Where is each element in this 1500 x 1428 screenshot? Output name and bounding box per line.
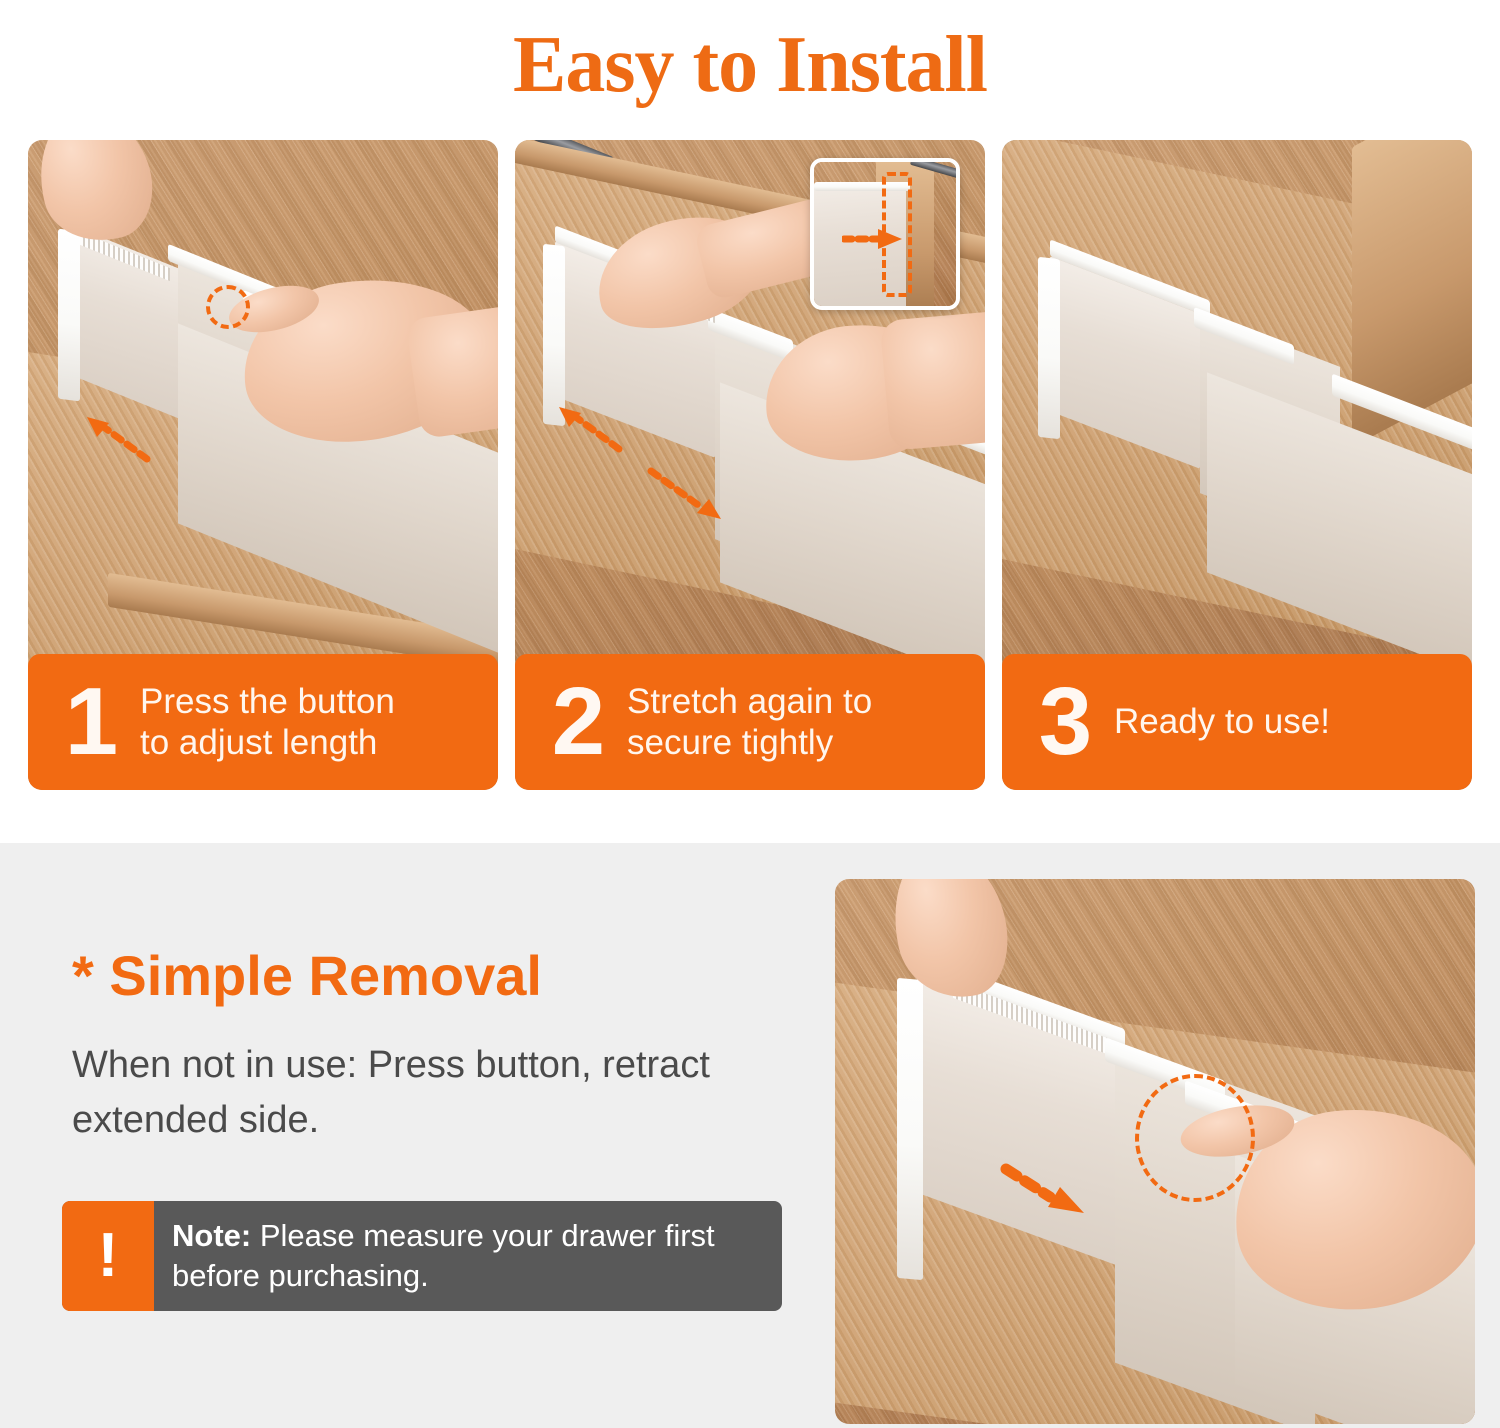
hand-right-forearm (880, 309, 985, 451)
step-3-text: Ready to use! (1114, 701, 1330, 742)
step-panel-2: 2 Stretch again to secure tightly (515, 140, 985, 790)
step-1-text: Press the button to adjust length (140, 681, 395, 764)
page-title: Easy to Install (513, 25, 987, 105)
page-header: Easy to Install (0, 0, 1500, 130)
direction-arrow-right-icon (1000, 1161, 1090, 1221)
hand-right-forearm (405, 301, 498, 439)
button-highlight-circle-icon (1135, 1074, 1255, 1202)
simple-removal-section: * Simple Removal When not in use: Press … (0, 843, 1500, 1428)
note-label: Note: (172, 1218, 251, 1253)
note-banner: ! Note: Please measure your drawer first… (62, 1201, 782, 1311)
divider-left-end-cap (58, 229, 80, 402)
step-2-inset-closeup (810, 158, 960, 310)
note-text: Note: Please measure your drawer first b… (154, 1201, 782, 1311)
direction-arrow-up-left-icon (555, 405, 625, 455)
divider-left-end-cap (1038, 257, 1060, 439)
step-1-caption: 1 Press the button to adjust length (28, 654, 498, 790)
exclamation-icon: ! (62, 1201, 154, 1311)
step-panel-3: 3 Ready to use! (1002, 140, 1472, 790)
removal-photo (835, 879, 1475, 1424)
step-2-text-line2: secure tightly (627, 723, 833, 762)
step-3-text-line1: Ready to use! (1114, 702, 1330, 741)
step-2-caption: 2 Stretch again to secure tightly (515, 654, 985, 790)
install-steps-row: 1 Press the button to adjust length (0, 140, 1500, 800)
removal-title: * Simple Removal (72, 943, 542, 1008)
step-3-caption: 3 Ready to use! (1002, 654, 1472, 790)
divider-left-end-cap (897, 978, 923, 1280)
step-1-number: 1 (44, 674, 136, 770)
direction-arrow-down-right-icon (645, 465, 725, 521)
removal-description: When not in use: Press button, retract e… (72, 1038, 812, 1148)
step-1-text-line1: Press the button (140, 682, 395, 721)
step-2-number: 2 (531, 674, 623, 770)
direction-arrow-left-icon (83, 415, 153, 465)
step-panel-1: 1 Press the button to adjust length (28, 140, 498, 790)
step-1-text-line2: to adjust length (140, 723, 377, 762)
button-highlight-circle-icon (206, 285, 250, 329)
divider-left-end-cap (543, 244, 565, 426)
inset-direction-arrow-right-icon (842, 226, 904, 250)
note-body: Please measure your drawer first before … (172, 1218, 715, 1293)
step-3-number: 3 (1018, 674, 1110, 770)
step-2-text: Stretch again to secure tightly (627, 681, 872, 764)
step-2-text-line1: Stretch again to (627, 682, 872, 721)
